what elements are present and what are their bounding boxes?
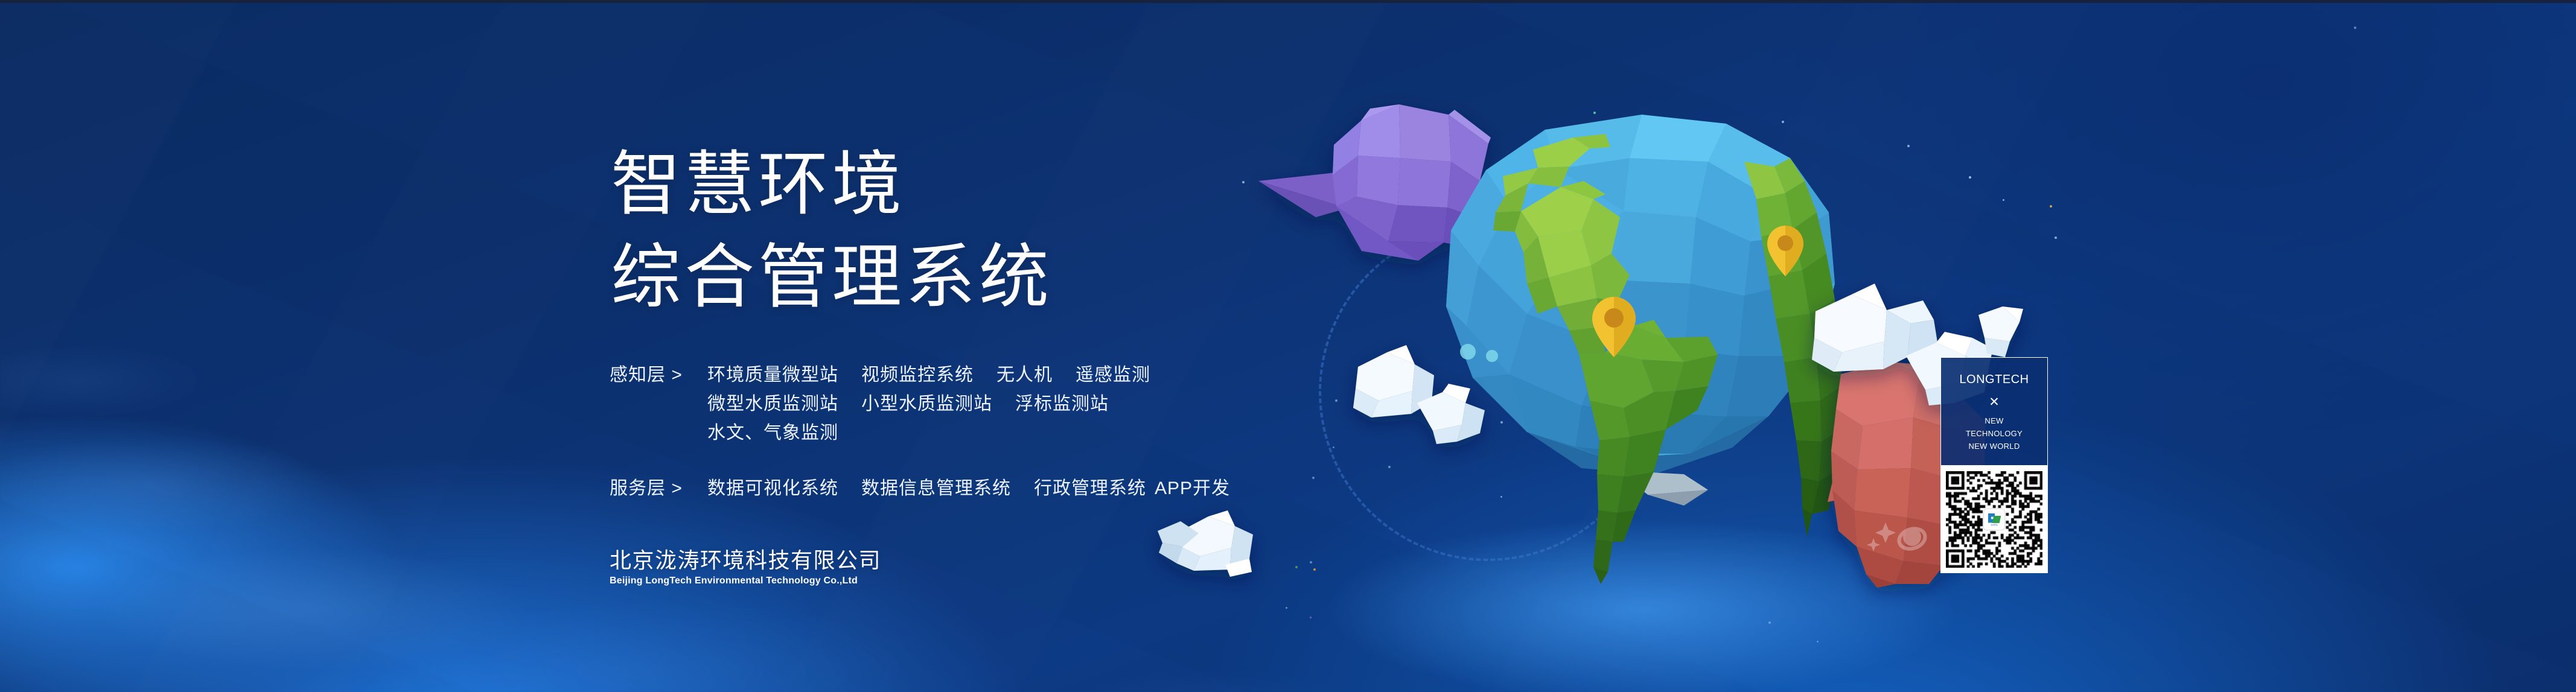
star-speck bbox=[2354, 27, 2356, 29]
banner-canvas: 智慧环境 综合管理系统 感知层 > 环境质量微型站 视频监控系统 无人机 遥感监… bbox=[0, 0, 2576, 692]
dashed-orbit-ring bbox=[1319, 223, 1657, 561]
star-speck bbox=[1388, 466, 1391, 468]
qr-tagline-3: NEW WORLD bbox=[1941, 441, 2047, 451]
cross-icon: ✕ bbox=[1941, 392, 2047, 413]
sensing-layer-row-1: 环境质量微型站 视频监控系统 无人机 遥感监测 bbox=[707, 361, 1150, 390]
sensing-layer-block: 感知层 > 环境质量微型站 视频监控系统 无人机 遥感监测 微型水质监测站 小型… bbox=[610, 361, 1150, 448]
star-speck bbox=[1242, 181, 1245, 183]
star-speck bbox=[1907, 145, 1910, 147]
star-speck bbox=[1768, 621, 1771, 624]
star-speck bbox=[1817, 641, 1819, 643]
service-item[interactable]: 行政管理系统 bbox=[1034, 474, 1146, 503]
company-name-cn: 北京泷涛环境科技有限公司 bbox=[610, 548, 881, 573]
star-speck bbox=[1313, 568, 1316, 571]
qr-tagline-2: TECHNOLOGY bbox=[1941, 428, 2047, 439]
star-speck bbox=[2050, 205, 2052, 208]
service-layer-label: 服务层 > bbox=[610, 474, 707, 503]
star-speck bbox=[1335, 399, 1337, 402]
sensing-layer-label: 感知层 > bbox=[610, 361, 707, 390]
sensing-item[interactable]: 小型水质监测站 bbox=[861, 390, 992, 419]
star-speck bbox=[1969, 176, 1971, 179]
title-line-2: 综合管理系统 bbox=[611, 238, 1053, 316]
company-name-en: Beijing LongTech Environmental Technolog… bbox=[610, 574, 881, 588]
background-cloud-wisps bbox=[0, 0, 2576, 692]
star-speck bbox=[1295, 566, 1298, 568]
sensing-layer-row-3: 水文、气象监测 bbox=[707, 419, 1150, 448]
page-title: 智慧环境 综合管理系统 bbox=[611, 138, 1053, 323]
star-speck bbox=[1593, 112, 1596, 114]
sensing-item[interactable]: 视频监控系统 bbox=[861, 361, 974, 390]
star-speck bbox=[1310, 617, 1312, 618]
star-speck bbox=[1333, 446, 1334, 448]
qr-code-panel[interactable]: 泷涛环境 bbox=[1940, 466, 2048, 573]
sensing-item[interactable]: 水文、气象监测 bbox=[707, 419, 838, 448]
star-speck bbox=[1312, 477, 1315, 479]
title-line-1: 智慧环境 bbox=[611, 145, 905, 223]
service-layer-block: 服务层 > 数据可视化系统 数据信息管理系统 行政管理系统 APP开发 bbox=[610, 474, 1230, 503]
star-speck bbox=[2003, 199, 2004, 201]
service-item[interactable]: APP开发 bbox=[1155, 474, 1230, 503]
service-layer-row-1: 数据可视化系统 数据信息管理系统 行政管理系统 APP开发 bbox=[707, 474, 1230, 503]
qr-card[interactable]: LONGTECH ✕ NEW TECHNOLOGY NEW WORLD 泷涛环境 bbox=[1940, 357, 2048, 573]
sensing-item[interactable]: 环境质量微型站 bbox=[707, 361, 838, 390]
star-speck bbox=[1929, 331, 1931, 332]
service-item[interactable]: 数据信息管理系统 bbox=[861, 474, 1011, 503]
star-speck bbox=[1500, 421, 1503, 424]
star-speck bbox=[1310, 561, 1312, 563]
star-speck bbox=[1451, 386, 1453, 388]
sensing-item[interactable]: 无人机 bbox=[996, 361, 1053, 390]
company-block: 北京泷涛环境科技有限公司 Beijing LongTech Environmen… bbox=[610, 548, 881, 588]
longtech-logo-icon: 泷涛环境 bbox=[1984, 509, 2004, 530]
qr-brand-name: LONGTECH bbox=[1941, 372, 2047, 387]
star-speck bbox=[1782, 121, 1784, 123]
service-item[interactable]: 数据可视化系统 bbox=[707, 474, 838, 503]
sensing-item[interactable]: 浮标监测站 bbox=[1015, 390, 1109, 419]
sensing-item[interactable]: 微型水质监测站 bbox=[707, 390, 838, 419]
star-speck bbox=[2055, 236, 2057, 239]
sensing-layer-row-2: 微型水质监测站 小型水质监测站 浮标监测站 bbox=[707, 390, 1150, 419]
star-speck bbox=[1500, 496, 1502, 498]
star-speck bbox=[1919, 338, 1922, 340]
star-speck bbox=[1286, 607, 1287, 609]
star-speck bbox=[1719, 124, 1722, 127]
sensing-item[interactable]: 遥感监测 bbox=[1076, 361, 1150, 390]
qr-card-header: LONGTECH ✕ NEW TECHNOLOGY NEW WORLD bbox=[1940, 357, 2048, 466]
qr-tagline-1: NEW bbox=[1941, 416, 2047, 426]
top-edge-bar bbox=[0, 0, 2576, 3]
